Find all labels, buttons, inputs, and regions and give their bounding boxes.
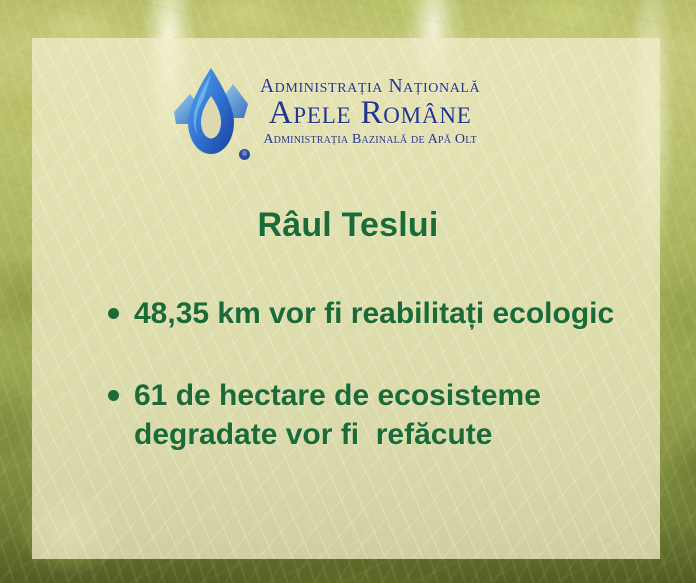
organization-logo: ® Administrația Națională Apele Române A… [170,62,480,162]
bullet-text: 48,35 km vor fi reabilitați ecologic [134,295,614,333]
bullet-dot-icon [108,390,119,401]
list-item: 48,35 km vor fi reabilitați ecologic [108,295,638,333]
bullet-text: 61 de hectare de ecosisteme degradate vo… [134,377,638,454]
water-drop-logo-icon: ® [170,62,252,162]
bullet-dot-icon [108,308,119,319]
logo-line-administratia-nationala: Administrația Națională [260,77,480,97]
fact-bullet-list: 48,35 km vor fi reabilitați ecologic 61 … [108,295,638,454]
logo-line-apele-romane: Apele Române [269,97,472,130]
poster-card: ® Administrația Națională Apele Române A… [0,0,696,583]
poster-content: ® Administrația Națională Apele Române A… [0,0,696,583]
logo-wordmark: Administrația Națională Apele Române Adm… [260,77,480,148]
list-item: 61 de hectare de ecosisteme degradate vo… [108,377,638,454]
registered-trademark-icon: ® [239,149,250,160]
page-title: Râul Teslui [0,206,696,245]
logo-line-administratia-bazinala: Administrația Bazinală de Apă Olt [263,133,477,147]
